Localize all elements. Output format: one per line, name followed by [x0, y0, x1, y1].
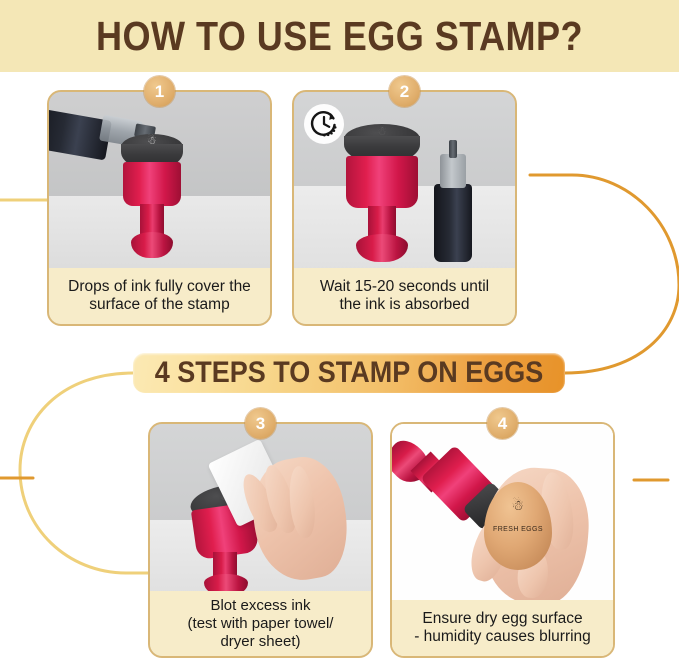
- stamp-body: [123, 162, 181, 206]
- step-panel-1[interactable]: ☃ Drops of ink fully cover the surface o…: [47, 90, 272, 326]
- step-badge-1: 1: [144, 76, 175, 107]
- infographic-root: HOW TO USE EGG STAMP? ☃: [0, 0, 679, 662]
- stamp-brand-mark: ☃: [125, 136, 179, 146]
- step-badge-2: 2: [389, 76, 420, 107]
- egg-stamp-text: FRESH EGGS: [492, 526, 544, 534]
- step-panel-3[interactable]: ☃ Blot excess ink (test with paper towel…: [148, 422, 373, 658]
- ink-bottle: [434, 184, 472, 262]
- stamp-body: [346, 156, 418, 208]
- ink-bottle-tip: [449, 140, 457, 158]
- caption-line: Ensure dry egg surface: [422, 610, 582, 628]
- step-3-caption: Blot excess ink (test with paper towel/ …: [150, 591, 371, 656]
- egg-chick-mark: ☃: [496, 500, 540, 512]
- caption-line: - humidity causes blurring: [414, 628, 591, 646]
- caption-line: surface of the stamp: [89, 296, 229, 314]
- caption-line: the ink is absorbed: [339, 296, 469, 314]
- stamp-foot: [356, 234, 408, 262]
- step-2-photo: ☃: [294, 92, 515, 272]
- mid-banner-title: 4 STEPS TO STAMP ON EGGS: [155, 353, 544, 393]
- step-1-caption: Drops of ink fully cover the surface of …: [49, 268, 270, 324]
- step-badge-3: 3: [245, 408, 276, 439]
- step-panel-2[interactable]: ☃: [292, 90, 517, 326]
- stamp-brand-mark: ☃: [348, 126, 416, 137]
- step-2-caption: Wait 15-20 seconds until the ink is abso…: [294, 268, 515, 324]
- mid-banner: 4 STEPS TO STAMP ON EGGS: [133, 353, 565, 393]
- step-4-photo: ☃ FRESH EGGS: [392, 424, 613, 604]
- step-4-caption: Ensure dry egg surface - humidity causes…: [392, 600, 613, 656]
- step-3-photo: ☃: [150, 424, 371, 595]
- ink-bottle-nozzle: [440, 154, 466, 188]
- step-1-photo: ☃: [49, 92, 270, 272]
- stamp-foot: [131, 232, 173, 258]
- caption-line: Wait 15-20 seconds until: [320, 278, 489, 296]
- caption-line: Blot excess ink: [210, 597, 310, 615]
- clock-icon: [309, 109, 339, 139]
- caption-line: Drops of ink fully cover the: [68, 278, 251, 296]
- caption-line: dryer sheet): [220, 633, 300, 651]
- step-panel-4[interactable]: ☃ FRESH EGGS Ensure dry egg surface - hu…: [390, 422, 615, 658]
- caption-line: (test with paper towel/: [188, 615, 334, 633]
- clock-icon-badge: [304, 104, 344, 144]
- page-title: HOW TO USE EGG STAMP?: [41, 11, 639, 61]
- step-badge-4: 4: [487, 408, 518, 439]
